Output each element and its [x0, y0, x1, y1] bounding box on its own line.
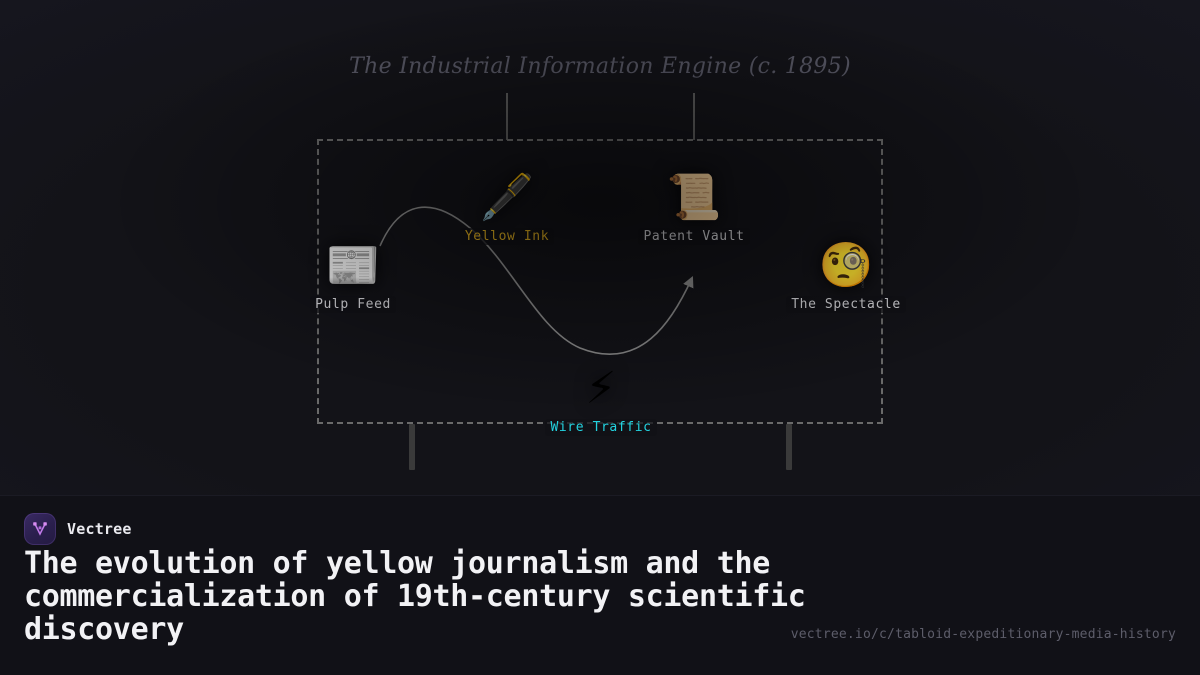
node-label-wire-traffic: Wire Traffic	[545, 419, 656, 436]
brand-name: Vectree	[67, 520, 132, 538]
page-url: vectree.io/c/tabloid-expeditionary-media…	[791, 627, 1176, 642]
monocle-face-icon: 🧐	[766, 240, 926, 292]
node-patent-vault[interactable]: 📜 Patent Vault	[614, 172, 774, 245]
diagram-canvas: The Industrial Information Engine (c. 18…	[0, 0, 1200, 495]
brand[interactable]: Vectree	[24, 513, 132, 545]
node-yellow-ink[interactable]: 🖋️ Yellow Ink	[427, 172, 587, 245]
newspaper-icon: 📰	[273, 240, 433, 292]
lightning-bolt-icon: ⚡	[521, 363, 681, 415]
node-label-yellow-ink: Yellow Ink	[460, 228, 554, 245]
node-label-patent-vault: Patent Vault	[638, 228, 749, 245]
node-label-the-spectacle: The Spectacle	[786, 296, 906, 313]
screenshot-root: The Industrial Information Engine (c. 18…	[0, 0, 1200, 675]
node-wire-traffic[interactable]: ⚡ Wire Traffic	[521, 363, 681, 436]
fountain-pen-icon: 🖋️	[427, 172, 587, 224]
node-pulp-feed[interactable]: 📰 Pulp Feed	[273, 240, 433, 313]
footer-bar: Vectree The evolution of yellow journali…	[0, 495, 1200, 675]
node-the-spectacle[interactable]: 🧐 The Spectacle	[766, 240, 926, 313]
article-headline: The evolution of yellow journalism and t…	[24, 547, 864, 646]
vectree-logo-icon	[24, 513, 56, 545]
scroll-icon: 📜	[614, 172, 774, 224]
node-label-pulp-feed: Pulp Feed	[310, 296, 396, 313]
